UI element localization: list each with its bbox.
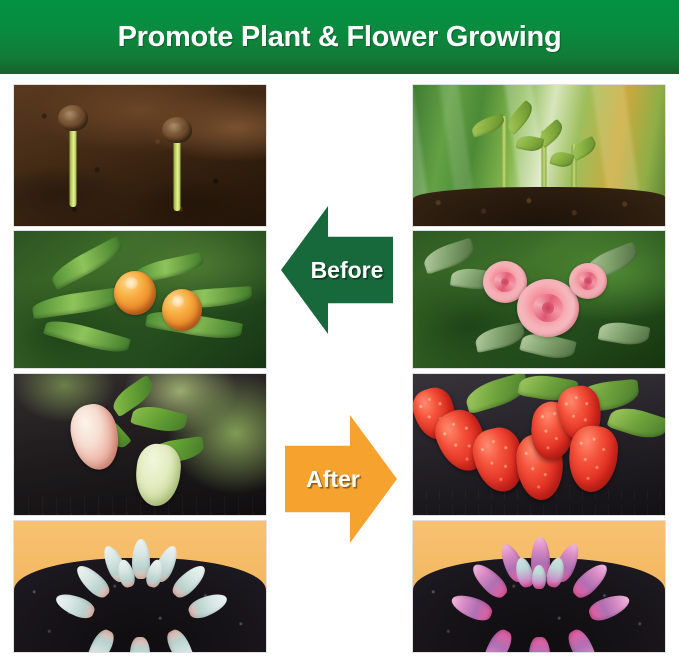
succulent-petal-inner xyxy=(532,565,546,589)
soil-specks xyxy=(14,85,266,226)
page-title: Promote Plant & Flower Growing xyxy=(118,21,562,54)
sprout-left xyxy=(58,107,88,207)
photo-succulent-after xyxy=(413,521,665,652)
infographic-page: Promote Plant & Flower Growing xyxy=(0,0,679,666)
seed-husk xyxy=(162,117,192,143)
seedling-stem xyxy=(502,116,507,192)
photo-roses-after xyxy=(413,231,665,368)
photo-strawberries-before xyxy=(14,374,266,515)
before-arrow[interactable]: Before xyxy=(281,206,393,334)
seedling-mid xyxy=(541,130,547,192)
arrow-left-icon xyxy=(281,206,393,334)
header-banner: Promote Plant & Flower Growing xyxy=(0,0,679,74)
sprout-right xyxy=(162,119,192,211)
seedling-tall xyxy=(501,116,507,192)
photo-strawberries-after xyxy=(413,374,665,515)
photo-seedlings-before xyxy=(14,85,266,226)
photo-succulent-before xyxy=(14,521,266,652)
flower-bud xyxy=(114,271,156,315)
photo-buds-before xyxy=(14,231,266,368)
seedling-short xyxy=(571,144,577,192)
soil-bed xyxy=(413,187,665,226)
seed-husk xyxy=(58,105,88,131)
photo-seedlings-after xyxy=(413,85,665,226)
rose-bloom-right xyxy=(569,263,607,299)
flower-bud xyxy=(162,289,202,331)
arrow-right-icon xyxy=(285,415,397,543)
after-arrow[interactable]: After xyxy=(285,415,397,543)
